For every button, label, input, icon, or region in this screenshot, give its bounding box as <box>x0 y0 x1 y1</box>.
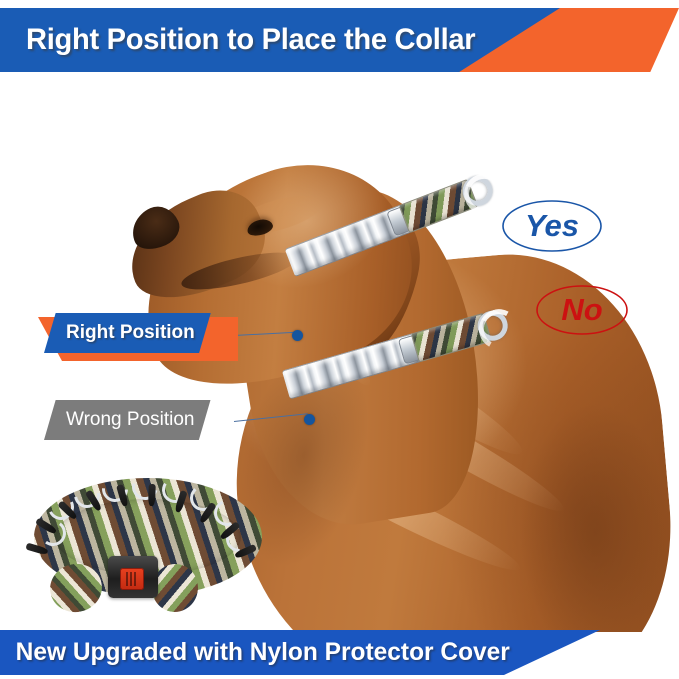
buckle-release-button <box>120 568 144 590</box>
callout-wrong-position: Wrong Position <box>44 400 211 440</box>
callout-right-position: Right Position <box>44 313 211 353</box>
header-banner: Right Position to Place the Collar <box>0 8 679 72</box>
page-title: Right Position to Place the Collar <box>26 8 475 72</box>
red-quick-release-buckle <box>108 556 158 598</box>
camo-nylon-prong-collar <box>26 468 270 620</box>
verdict-yes-label: Yes <box>525 208 579 244</box>
verdict-yes: Yes <box>500 198 604 254</box>
leader-endpoint-dot <box>304 414 315 425</box>
footer-caption: New Upgraded with Nylon Protector Cover <box>0 630 549 675</box>
callout-plate: Wrong Position <box>44 400 211 440</box>
callout-plate: Right Position <box>44 313 211 353</box>
verdict-no-label: No <box>561 292 602 328</box>
leader-endpoint-dot <box>292 330 303 341</box>
verdict-no: No <box>534 283 630 337</box>
product-infographic: Right Position to Place the Collar <box>0 0 679 679</box>
